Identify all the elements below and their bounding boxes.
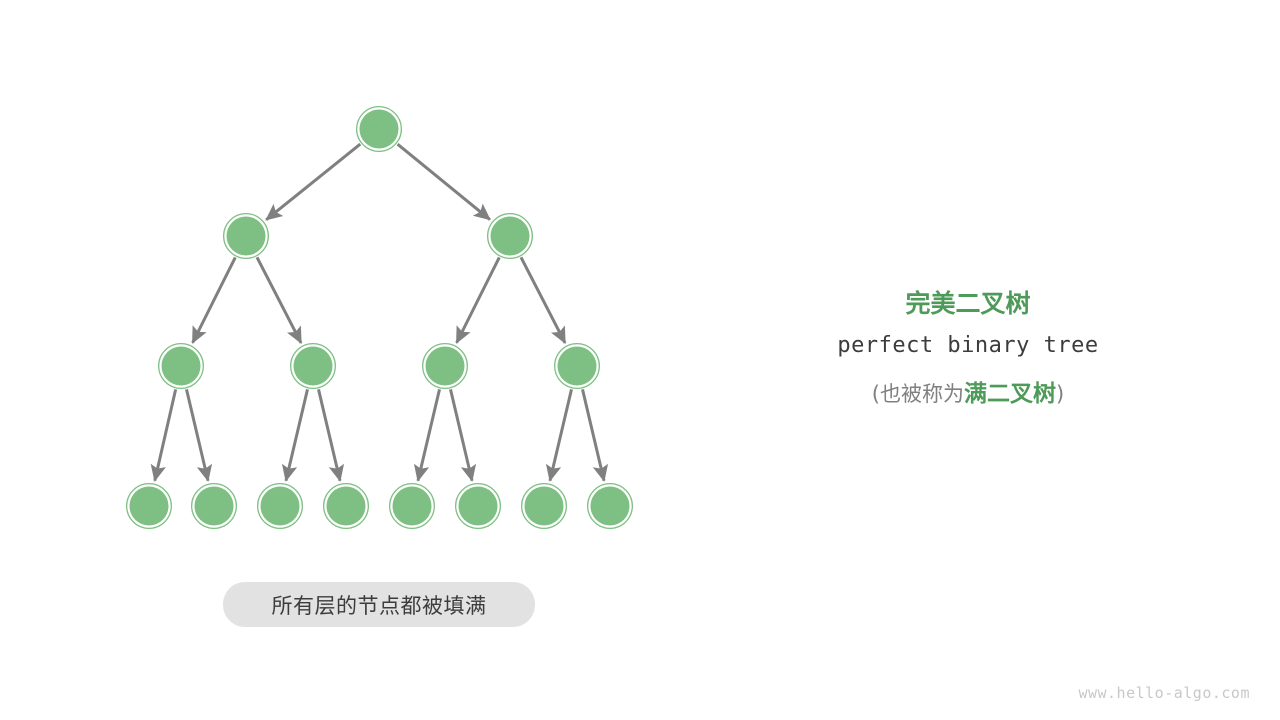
tree-node[interactable]	[555, 344, 599, 388]
node-fill	[558, 347, 597, 386]
site-watermark: www.hello-algo.com	[1078, 684, 1250, 702]
legend-block: 完美二叉树 perfect binary tree (也被称为满二叉树)	[768, 288, 1168, 408]
tree-edge	[193, 257, 236, 342]
tree-edge	[457, 257, 500, 342]
legend-alias-prefix: (也被称为	[872, 382, 964, 406]
tree-edge	[266, 144, 360, 220]
tree-edge	[286, 389, 308, 480]
tree-node[interactable]	[588, 484, 632, 528]
tree-node[interactable]	[224, 214, 268, 258]
diagram-canvas: 所有层的节点都被填满 完美二叉树 perfect binary tree (也被…	[0, 0, 1280, 720]
node-fill	[360, 110, 399, 149]
tree-node[interactable]	[291, 344, 335, 388]
tree-edge	[521, 257, 565, 343]
tree-node[interactable]	[357, 107, 401, 151]
node-fill	[426, 347, 465, 386]
tree-edge	[155, 389, 176, 480]
tree-edge	[550, 389, 572, 480]
node-fill	[162, 347, 201, 386]
node-fill	[393, 487, 432, 526]
node-fill	[327, 487, 366, 526]
legend-alias-suffix: )	[1056, 382, 1064, 406]
tree-node[interactable]	[159, 344, 203, 388]
tree-node[interactable]	[258, 484, 302, 528]
node-fill	[195, 487, 234, 526]
tree-node[interactable]	[390, 484, 434, 528]
tree-edge	[451, 389, 473, 480]
node-fill	[459, 487, 498, 526]
tree-edge	[418, 389, 440, 480]
tree-node[interactable]	[423, 344, 467, 388]
legend-alias: (也被称为满二叉树)	[768, 374, 1168, 408]
tree-node[interactable]	[488, 214, 532, 258]
caption-label: 所有层的节点都被填满	[272, 590, 487, 620]
tree-edge	[398, 144, 490, 219]
node-fill	[294, 347, 333, 386]
node-fill	[591, 487, 630, 526]
node-fill	[130, 487, 169, 526]
tree-node[interactable]	[127, 484, 171, 528]
tree-edge	[187, 389, 209, 480]
tree-edge	[257, 257, 301, 343]
legend-subtitle: perfect binary tree	[768, 333, 1168, 358]
caption-badge: 所有层的节点都被填满	[223, 582, 535, 627]
tree-node[interactable]	[192, 484, 236, 528]
tree-edge-layer	[155, 144, 604, 481]
tree-node-layer	[127, 107, 632, 528]
node-fill	[491, 217, 530, 256]
legend-title: 完美二叉树	[768, 288, 1168, 319]
tree-edge	[319, 389, 341, 480]
tree-edge	[583, 389, 605, 480]
node-fill	[261, 487, 300, 526]
legend-alias-strong: 满二叉树	[964, 381, 1056, 407]
tree-node[interactable]	[522, 484, 566, 528]
tree-node[interactable]	[456, 484, 500, 528]
node-fill	[525, 487, 564, 526]
node-fill	[227, 217, 266, 256]
tree-node[interactable]	[324, 484, 368, 528]
